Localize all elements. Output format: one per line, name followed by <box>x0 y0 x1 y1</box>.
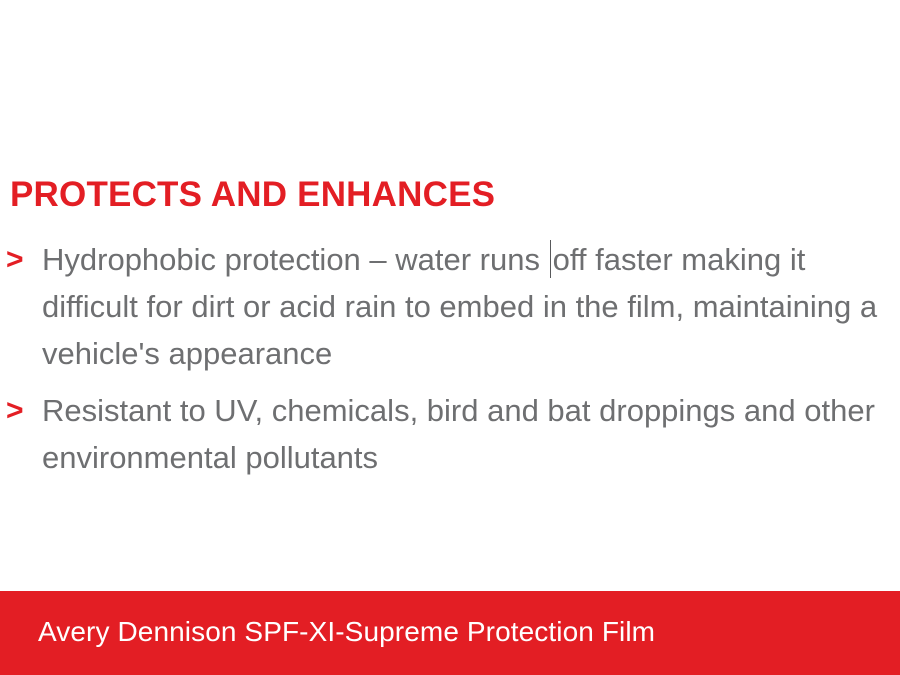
slide-canvas: PROTECTS AND ENHANCES > Hydrophobic prot… <box>0 0 900 675</box>
page-title: PROTECTS AND ENHANCES <box>10 175 870 215</box>
list-item-text-before-caret: Hydrophobic protection – water runs <box>42 242 549 277</box>
footer-bar: Avery Dennison SPF-XI-Supreme Protection… <box>0 591 900 675</box>
list-item-text: Hydrophobic protection – water runs off … <box>42 236 900 377</box>
chevron-right-bullet-icon: > <box>6 387 36 434</box>
list-item-text: Resistant to UV, chemicals, bird and bat… <box>42 387 900 481</box>
list-item[interactable]: > Hydrophobic protection – water runs of… <box>4 236 900 377</box>
bullet-list: > Hydrophobic protection – water runs of… <box>4 236 900 491</box>
chevron-right-bullet-icon: > <box>6 236 36 283</box>
text-caret <box>550 240 551 278</box>
list-item[interactable]: > Resistant to UV, chemicals, bird and b… <box>4 387 900 481</box>
footer-title: Avery Dennison SPF-XI-Supreme Protection… <box>38 591 655 675</box>
